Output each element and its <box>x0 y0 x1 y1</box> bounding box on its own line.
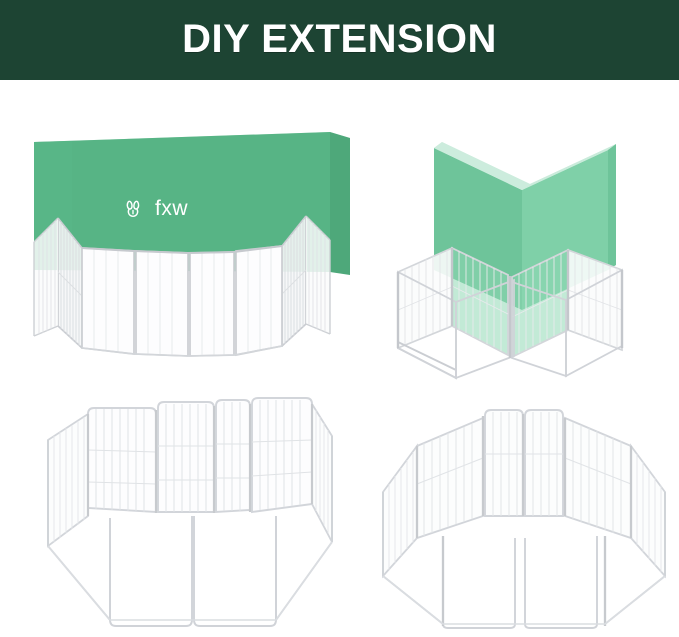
octagon-panel-right <box>631 446 665 576</box>
figure-octagon-pen <box>355 380 675 630</box>
figure-square-pen <box>30 380 350 630</box>
front-frame-1 <box>110 516 192 626</box>
square-pen-side-left <box>48 414 88 546</box>
octagon-pen-illustration <box>355 380 675 630</box>
square-pen-back-panels <box>88 398 312 512</box>
square-pen-side-right <box>312 404 332 542</box>
product-infographic: DIY EXTENSION <box>0 0 679 637</box>
front-panel-1 <box>82 248 134 354</box>
figure-straight-wall-extension: fxw <box>12 120 364 380</box>
octagon-panel-back-right <box>565 418 631 538</box>
wall-right-face <box>330 132 350 275</box>
octagon-frame-front-center-right <box>525 536 597 628</box>
back-panel-1 <box>88 408 156 512</box>
octagon-panel-back-center-right <box>525 410 563 516</box>
octagon-panel-left <box>383 446 417 576</box>
octagon-panel-back-left <box>417 418 483 538</box>
square-pen-floor-rail <box>48 542 332 620</box>
page-title: DIY EXTENSION <box>182 19 497 61</box>
figure-grid: fxw <box>0 80 679 637</box>
back-panel-4 <box>252 398 312 512</box>
octagon-panel-back-center-left <box>485 410 523 516</box>
straight-wall-illustration <box>12 120 364 380</box>
back-panel-3 <box>216 400 250 512</box>
front-panel-4 <box>236 246 282 355</box>
pen-panel-side-left <box>398 248 452 348</box>
front-frame-2 <box>194 516 276 626</box>
octagon-floor-rail <box>383 576 665 624</box>
figure-corner-wall-extension <box>380 120 672 380</box>
front-panel-3 <box>190 252 234 356</box>
corner-wall-illustration <box>380 120 672 380</box>
octagon-frame-front-center-left <box>443 536 515 628</box>
front-panel-group <box>82 246 282 356</box>
square-pen-illustration <box>30 380 350 630</box>
front-panel-2 <box>136 251 188 356</box>
corner-wall-right-edge <box>608 144 616 270</box>
header-banner: DIY EXTENSION <box>0 0 679 80</box>
